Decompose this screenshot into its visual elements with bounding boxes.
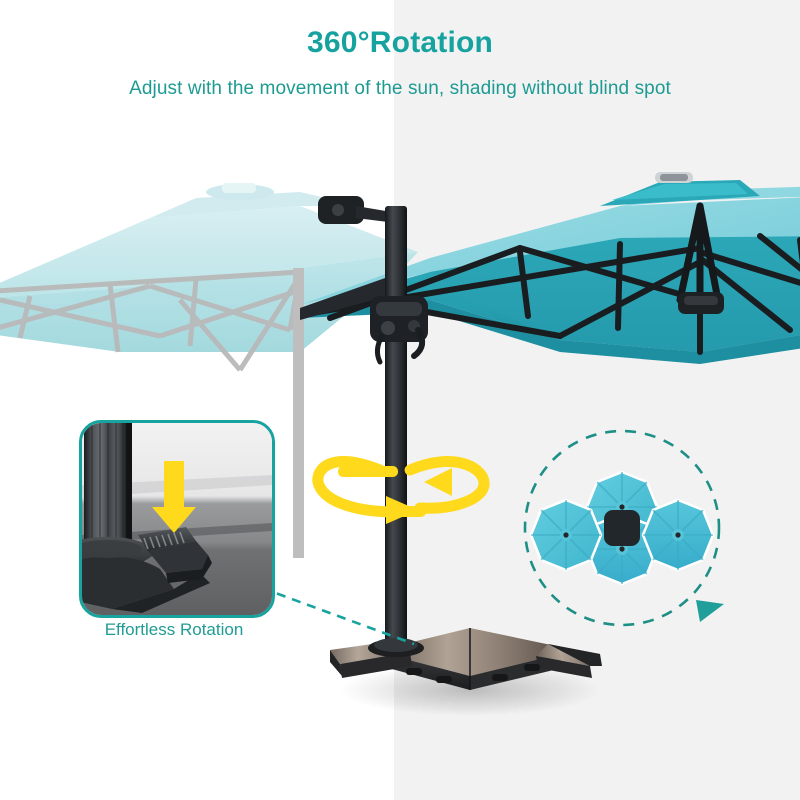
inset-closeup-illustration xyxy=(82,423,272,615)
center-hub-icon xyxy=(604,510,640,546)
product-illustration xyxy=(0,0,800,800)
umbrella-icon-left xyxy=(531,500,601,570)
inset-caption: Effortless Rotation xyxy=(79,620,269,640)
umbrella-icon-right xyxy=(643,500,713,570)
rotation-positions-diagram xyxy=(500,424,750,644)
infographic-canvas: 360°Rotation Adjust with the movement of… xyxy=(0,0,800,800)
umbrella-pole xyxy=(385,206,407,658)
effortless-rotation-inset xyxy=(79,420,275,618)
triangle-arrow-icon xyxy=(696,600,724,622)
